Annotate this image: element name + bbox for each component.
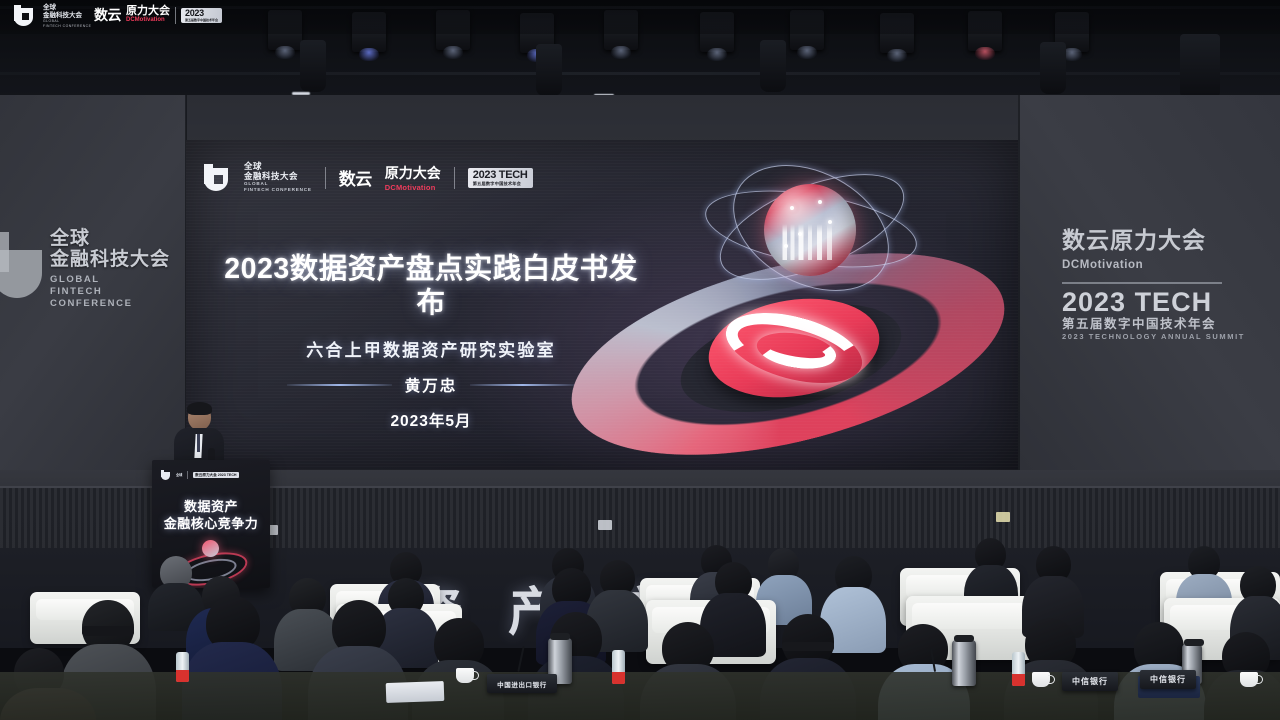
divider-left [287, 384, 392, 386]
slide-logo-dcmotivation: DCMotivation [385, 183, 441, 192]
divider [1062, 282, 1222, 284]
hanging-lamp [300, 40, 326, 92]
nameplate: 中信银行 [1062, 672, 1118, 691]
eyeglasses [782, 642, 834, 651]
badge-sub: 第五届数字中国技术年会 [473, 181, 528, 186]
hanging-lamp [1040, 42, 1066, 94]
thermos [952, 640, 976, 686]
right-wall-summit-cn: 第五届数字中国技术年会 [1062, 317, 1267, 332]
right-wall-branding: 数云原力大会 DCMotivation 2023 TECH 第五届数字中国技术年… [1062, 228, 1267, 338]
podium-logo-badge: 数云原力大会 2023 TECH [193, 472, 238, 478]
floor-marker [598, 520, 612, 530]
left-wall-en-line2: FINTECH CONFERENCE [50, 286, 178, 310]
slide-swirl-graphic [558, 158, 1018, 458]
main-led-screen: 全球 金融科技大会 GLOBAL FINTECH CONFERENCE 数云 原… [186, 140, 1018, 470]
podium-title-line1: 数据资产 [152, 498, 270, 515]
divider [325, 167, 326, 189]
right-wall-tech-line: 2023 TECH [1062, 288, 1267, 317]
audience-member [964, 538, 1018, 602]
fintech-logo-mark [0, 232, 46, 298]
broadcast-center-logo: 数云 原力大会 DCMotivation 2023 第五届数字中国技术年会 [94, 5, 222, 25]
hanging-lamp [536, 44, 562, 96]
nameplate: 中国进出口银行 [487, 674, 557, 693]
hanging-lamp [760, 40, 786, 92]
overlay-en-line2: FINTECH CONFERENCE [43, 24, 91, 29]
overlay-cn-line1: 全球 [43, 4, 91, 12]
audience-member [1022, 546, 1084, 626]
left-wall-branding: 全球 金融科技大会 GLOBAL FINTECH CONFERENCE [8, 228, 178, 312]
left-wall-cn-line1: 全球 [50, 228, 170, 249]
eyeglasses [82, 626, 134, 636]
right-wall-dcmotivation: DCMotivation [1062, 253, 1267, 278]
overlay-shuyun: 数云 [94, 5, 121, 25]
slide-logo-yuanli: 原力大会 [385, 163, 441, 183]
overlay-dcmotivation: DCMotivation [126, 17, 170, 24]
slide-logo-tech-badge: 2023 TECH 第五届数字中国技术年会 [468, 168, 533, 188]
badge-year: 2023 TECH [473, 170, 528, 181]
left-wall-cn-line2: 金融科技大会 [50, 249, 170, 270]
teacup [1032, 672, 1050, 687]
water-bottle [176, 652, 189, 682]
podium-logo-cn: 全球 [176, 473, 182, 477]
right-wall-summit-en: 2023 TECHNOLOGY ANNUAL SUMMIT [1062, 332, 1267, 342]
hanging-lamp [1180, 34, 1220, 100]
water-bottle [1012, 652, 1025, 686]
floor-marker [996, 512, 1010, 522]
overlay-cn-line2: 金融科技大会 [43, 12, 91, 20]
stage-scene: 全球 金融科技大会 GLOBAL FINTECH CONFERENCE 数云原力… [0, 0, 1280, 720]
overlay-badge-sub: 第五届数字中国技术年会 [185, 18, 218, 22]
overlay-yuanli: 原力大会 [126, 6, 170, 17]
overlay-badge-year: 2023 [185, 9, 218, 18]
right-wall-yuanli: 原力大会 [1110, 227, 1206, 253]
water-bottle [612, 650, 625, 684]
fintech-logo-mark [14, 5, 35, 27]
slide-logo-en2: FINTECH CONFERENCE [244, 187, 312, 193]
table-microphone [517, 646, 524, 672]
teacup [1240, 672, 1258, 687]
slide-logo-shuyun: 数云 [339, 165, 372, 190]
nameplate: 中信银行 [1140, 670, 1196, 689]
globe-sphere [764, 184, 856, 276]
document [386, 681, 445, 703]
slide-logo-cn2: 金融科技大会 [244, 172, 312, 182]
left-wall-en-line1: GLOBAL [50, 274, 178, 286]
teacup [456, 668, 474, 683]
broadcast-left-logo: 全球 金融科技大会 GLOBAL FINTECH CONFERENCE [14, 4, 91, 28]
podium-title-line2: 金融核心竞争力 [152, 515, 270, 532]
fintech-logo-mark [204, 164, 231, 191]
fintech-logo-mark [161, 470, 171, 480]
divider [454, 167, 455, 189]
slide-presenter: 黄万忠 [405, 374, 458, 396]
podium-logos: 全球 数云原力大会 2023 TECH [161, 470, 239, 480]
slide-header-logos: 全球 金融科技大会 GLOBAL FINTECH CONFERENCE 数云 原… [204, 162, 533, 193]
right-wall-shuyun: 数云 [1062, 227, 1110, 253]
